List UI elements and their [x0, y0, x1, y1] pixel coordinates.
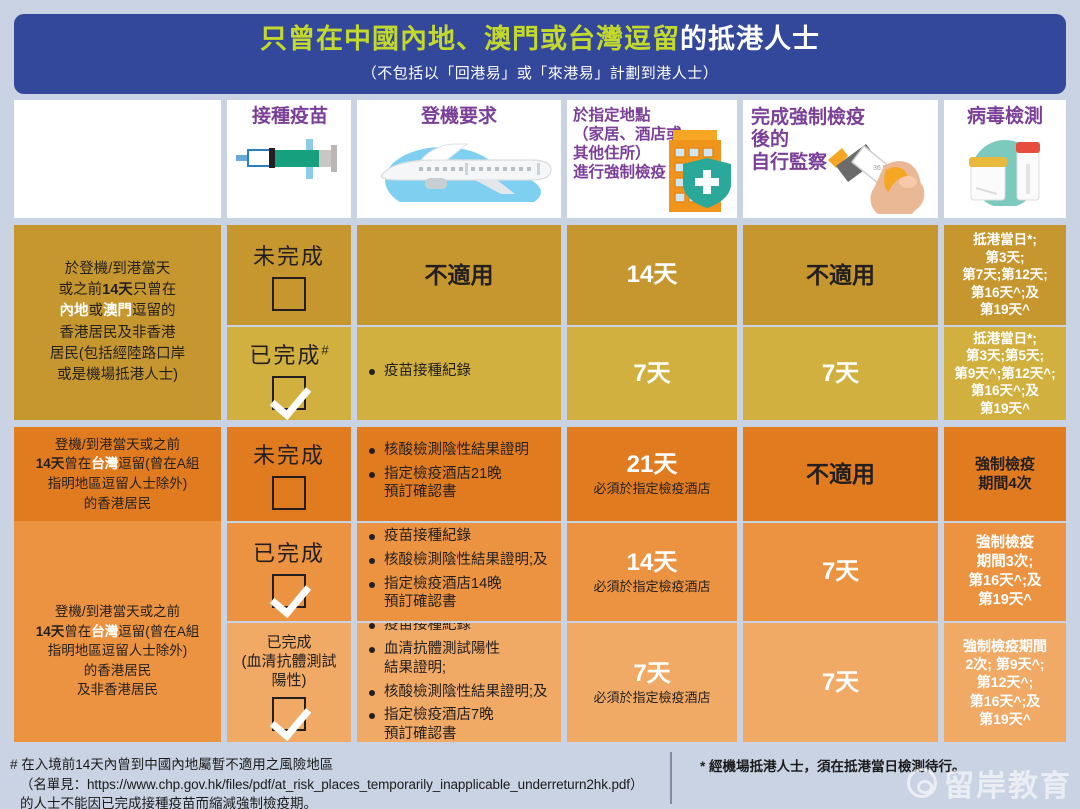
boarding-requirement-list: 核酸檢測陰性結果證明 指定檢疫酒店21晚 預訂確認書: [363, 441, 555, 508]
checkbox-unchecked[interactable]: [272, 277, 306, 311]
vaccination-status-label: 未完成: [253, 438, 325, 470]
testing-schedule: 抵港當日*; 第3天;第5天; 第9天^;第12天^; 第16天^;及 第19天…: [954, 330, 1055, 418]
list-item: 疫苗接種紀錄: [367, 623, 555, 635]
header-cell-vaccination: 接種疫苗: [227, 100, 351, 218]
airplane-icon: [359, 130, 559, 202]
selfmonitor-days: 7天: [822, 558, 859, 586]
thermometer-hand-icon: 36.5: [826, 122, 938, 218]
cell-g1r1-quarantine: 14天: [567, 225, 737, 325]
cell-g2r1-vaccination: 未完成: [227, 427, 351, 521]
vaccination-status-label: 已完成#: [249, 338, 328, 370]
testing-schedule: 抵港當日*; 第3天; 第7天;第12天; 第16天^;及 第19天^: [962, 231, 1048, 319]
list-item: 指定檢疫酒店14晚 預訂確認書: [367, 575, 555, 613]
cell-g1r1-boarding: 不適用: [357, 225, 561, 325]
cell-g2r2-quarantine: 14天 必須於指定檢疫酒店: [567, 523, 737, 621]
cell-g2r1-boarding: 核酸檢測陰性結果證明 指定檢疫酒店21晚 預訂確認書: [357, 427, 561, 521]
footnote-hash-line-2: （名單見：https://www.chp.gov.hk/files/pdf/at…: [10, 775, 665, 795]
boarding-requirement-list: 疫苗接種紀錄: [363, 362, 555, 386]
vaccination-status-label: 已完成 (血清抗體測試 陽性): [242, 634, 337, 690]
watermark: 留岸教育: [907, 761, 1072, 805]
group-1-description-text: 於登機/到港當天或之前14天只曾在內地或澳門逗留的香港居民及非香港居民(包括經陸…: [20, 259, 215, 385]
cell-g2r2-testing: 強制檢疫 期間3次; 第16天^;及 第19天^: [944, 523, 1066, 621]
footnote-marker-hash: #: [321, 342, 328, 357]
quarantine-note: 必須於指定檢疫酒店: [593, 481, 710, 497]
cell-g2r2-vaccination: 已完成: [227, 523, 351, 621]
header-cell-category: [14, 100, 221, 218]
banner-subtitle: （不包括以「回港易」或「來港易」計劃到港人士）: [362, 62, 719, 83]
selfmonitor-days: 7天: [822, 669, 859, 697]
checkbox-checked[interactable]: [272, 697, 306, 731]
list-item: 核酸檢測陰性結果證明;及: [367, 551, 555, 570]
header-cell-testing: 病毒檢測: [944, 100, 1066, 218]
quarantine-days: 14天: [627, 261, 678, 289]
cell-g1r1-selfmonitor: 不適用: [743, 225, 938, 325]
testing-schedule: 強制檢疫 期間4次: [975, 455, 1035, 494]
watermark-text: 留岸教育: [944, 761, 1072, 805]
quarantine-days: 7天: [633, 360, 670, 388]
list-item: 疫苗接種紀錄: [367, 362, 555, 381]
cell-g1r2-selfmonitor: 7天: [743, 327, 938, 420]
banner-title-rest: 的抵港人士: [680, 24, 820, 54]
cell-g1r1-testing: 抵港當日*; 第3天; 第7天;第12天; 第16天^;及 第19天^: [944, 225, 1066, 325]
header-label-boarding: 登機要求: [421, 106, 497, 128]
footnote-hash-line-3: 的人士不能因已完成接種疫苗而縮減強制檢疫期。: [10, 794, 665, 809]
quarantine-note: 必須於指定檢疫酒店: [593, 690, 710, 706]
group-2-description-bottom: 登機/到港當天或之前14天曾在台灣逗留(曾在A組指明地區逗留人士除外)的香港居民…: [14, 560, 221, 742]
checkbox-unchecked[interactable]: [272, 476, 306, 510]
quarantine-days: 14天: [627, 549, 678, 577]
infographic-page: 只曾在中國內地、澳門或台灣逗留的抵港人士 （不包括以「回港易」或「來港易」計劃到…: [0, 0, 1080, 809]
checkbox-checked[interactable]: [272, 376, 306, 410]
vaccination-status-label: 未完成: [253, 239, 325, 271]
quarantine-days: 21天: [627, 451, 678, 479]
footnote-hash-line-1: # 在入境前14天內曾到中國內地屬暫不適用之風險地區: [10, 755, 665, 775]
header-cell-boarding: 登機要求: [357, 100, 561, 218]
header-label-testing: 病毒檢測: [967, 106, 1043, 128]
selfmonitor-days: 7天: [822, 360, 859, 388]
list-item: 核酸檢測陰性結果證明;及: [367, 683, 555, 702]
testing-schedule: 強制檢疫期間 2次; 第9天^; 第12天^; 第16天^;及 第19天^: [963, 637, 1047, 728]
cell-g2r1-quarantine: 21天 必須於指定檢疫酒店: [567, 427, 737, 521]
cell-g2r3-boarding: 疫苗接種紀錄 血清抗體測試陽性 結果證明; 核酸檢測陰性結果證明;及 指定檢疫酒…: [357, 623, 561, 742]
specimen-bottles-icon: [949, 130, 1061, 206]
list-item: 指定檢疫酒店7晚 預訂確認書: [367, 706, 555, 742]
cell-g1r2-quarantine: 7天: [567, 327, 737, 420]
header-label-quarantine: 於指定地點 （家居、酒店或 其他住所） 進行強制檢疫: [573, 107, 682, 183]
list-item: 核酸檢測陰性結果證明: [367, 441, 555, 460]
selfmonitor-days: 不適用: [806, 461, 875, 487]
quarantine-days: 7天: [633, 660, 670, 688]
header-label-vaccination: 接種疫苗: [252, 106, 328, 128]
boarding-requirement-list: 疫苗接種紀錄 核酸檢測陰性結果證明;及 指定檢疫酒店14晚 預訂確認書: [363, 527, 555, 617]
header-cell-quarantine: 於指定地點 （家居、酒店或 其他住所） 進行強制檢疫: [567, 100, 737, 218]
cell-g2r3-vaccination: 已完成 (血清抗體測試 陽性): [227, 623, 351, 742]
cell-g1r2-testing: 抵港當日*; 第3天;第5天; 第9天^;第12天^; 第16天^;及 第19天…: [944, 327, 1066, 420]
banner-title-highlight: 只曾在中國內地、澳門或台灣逗留: [260, 24, 680, 54]
selfmonitor-days: 不適用: [806, 262, 875, 288]
cell-g1r2-boarding: 疫苗接種紀錄: [357, 327, 561, 420]
cell-g2r1-selfmonitor: 不適用: [743, 427, 938, 521]
cell-g2r3-selfmonitor: 7天: [743, 623, 938, 742]
footnote-hash: # 在入境前14天內曾到中國內地屬暫不適用之風險地區 （名單見：https://…: [10, 755, 665, 809]
list-item: 血清抗體測試陽性 結果證明;: [367, 640, 555, 678]
cell-g2r3-testing: 強制檢疫期間 2次; 第9天^; 第12天^; 第16天^;及 第19天^: [944, 623, 1066, 742]
list-item: 指定檢疫酒店21晚 預訂確認書: [367, 465, 555, 503]
cell-g2r2-boarding: 疫苗接種紀錄 核酸檢測陰性結果證明;及 指定檢疫酒店14晚 預訂確認書: [357, 523, 561, 621]
row-group-1-description: 於登機/到港當天或之前14天只曾在內地或澳門逗留的香港居民及非香港居民(包括經陸…: [14, 225, 221, 420]
boarding-requirement-list: 疫苗接種紀錄 血清抗體測試陽性 結果證明; 核酸檢測陰性結果證明;及 指定檢疫酒…: [363, 623, 555, 742]
group-2-description-bottom-text: 登機/到港當天或之前14天曾在台灣逗留(曾在A組指明地區逗留人士除外)的香港居民…: [20, 602, 215, 700]
cell-g2r1-testing: 強制檢疫 期間4次: [944, 427, 1066, 521]
hotel-shield-icon: [667, 124, 733, 216]
cell-g2r3-quarantine: 7天 必須於指定檢疫酒店: [567, 623, 737, 742]
syringe-icon: [236, 136, 344, 182]
checkbox-checked[interactable]: [272, 574, 306, 608]
boarding-requirement-text: 不適用: [425, 262, 494, 288]
quarantine-note: 必須於指定檢疫酒店: [593, 579, 710, 595]
cell-g1r1-vaccination: 未完成: [227, 225, 351, 325]
cell-g1r2-vaccination: 已完成#: [227, 327, 351, 420]
testing-schedule: 強制檢疫 期間3次; 第16天^;及 第19天^: [969, 534, 1042, 609]
footnote-divider: [670, 752, 672, 804]
cell-g2r2-selfmonitor: 7天: [743, 523, 938, 621]
banner-title: 只曾在中國內地、澳門或台灣逗留的抵港人士: [260, 25, 820, 55]
header-cell-selfmonitor: 完成強制檢疫 後的 自行監察 36.5: [743, 100, 938, 218]
group-2-description-top: 登機/到港當天或之前14天曾在台灣逗留(曾在A組指明地區逗留人士除外)的香港居民: [14, 427, 221, 521]
vaccination-status-label: 已完成: [253, 536, 325, 568]
list-item: 疫苗接種紀錄: [367, 527, 555, 546]
weibo-icon: [907, 768, 937, 798]
title-banner: 只曾在中國內地、澳門或台灣逗留的抵港人士 （不包括以「回港易」或「來港易」計劃到…: [14, 14, 1066, 94]
group-2-description-top-text: 登機/到港當天或之前14天曾在台灣逗留(曾在A組指明地區逗留人士除外)的香港居民: [20, 435, 215, 513]
